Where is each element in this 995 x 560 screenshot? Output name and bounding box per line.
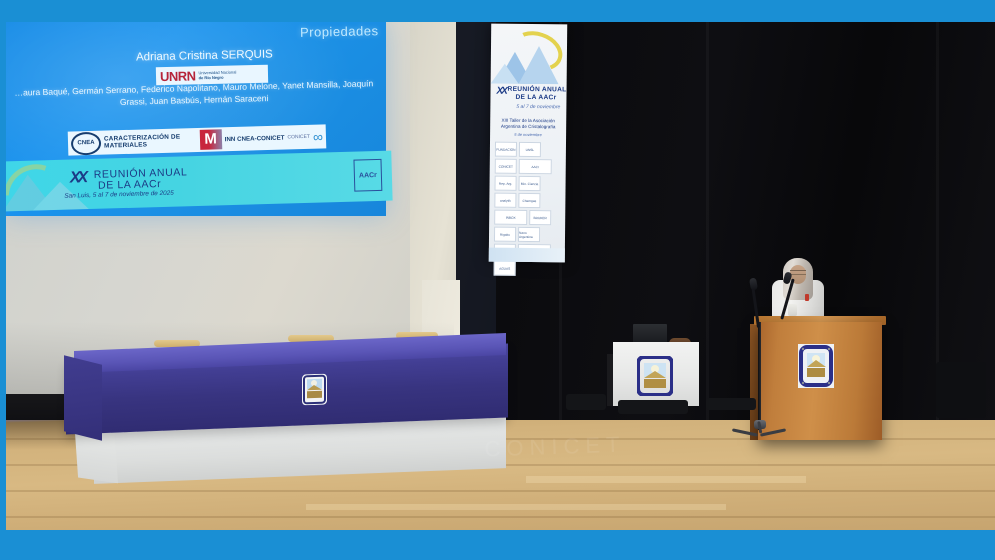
rollup-banner: XX REUNIÓN ANUAL DE LA AACr 5 al 7 de no… — [489, 24, 567, 263]
conference-photograph: Propiedades Adriana Cristina SERQUIS UNR… — [6, 22, 995, 530]
sponsor-logo: AGUAS — [494, 261, 516, 276]
speaker-person — [772, 258, 824, 324]
conicet-label: CONICET — [287, 134, 310, 141]
floor-equipment-case — [566, 394, 606, 410]
sponsor-logo: Nano Argentina — [518, 227, 540, 242]
speaker-badge — [805, 294, 809, 301]
unsl-crest-icon — [302, 374, 327, 406]
sponsor-logo: INBOX — [494, 210, 527, 225]
sponsor-logo: Rigaku — [494, 227, 516, 242]
cnea-logo-icon: CNEA — [71, 131, 102, 155]
floor-cable-bundle — [618, 400, 688, 414]
sponsor-logo: Min. Ciencia — [518, 176, 540, 191]
banner-dates: 5 al 7 de noviembre — [516, 104, 560, 110]
microphone-tripod-base — [732, 426, 788, 436]
sponsor-logo: BRUKER — [529, 210, 551, 225]
speaker-glasses-icon — [790, 270, 806, 275]
unrn-line2: de Río Negro — [199, 75, 224, 81]
sponsor-logo: CONICET — [495, 159, 517, 174]
water-glass — [788, 304, 797, 316]
table-navy-drape — [64, 355, 102, 440]
banner-line1: REUNIÓN ANUAL — [508, 86, 567, 94]
curtain-fold — [706, 22, 709, 442]
unsl-crest-icon — [637, 356, 673, 396]
materiales-m-icon: M — [199, 129, 222, 150]
banner-workshop-line1: XIII Taller de la Asociación — [501, 118, 555, 124]
sponsor-logo: Rep. Arg. — [494, 176, 516, 191]
bottom-border-bar — [0, 530, 995, 560]
banner-workshop-line2: Argentina de Cristalografía — [501, 124, 556, 130]
photo-canvas: Propiedades Adriana Cristina SERQUIS UNR… — [0, 0, 995, 560]
sponsor-logo: analytik — [494, 193, 516, 208]
head-table — [66, 334, 516, 479]
banner-workshop-title: XIII Taller de la Asociación Argentina d… — [498, 118, 558, 131]
floor-equipment-box — [706, 398, 756, 410]
banner-artwork — [491, 28, 568, 85]
banner-roman-numeral: XX — [496, 86, 505, 97]
sponsor-logo: AACr — [519, 159, 552, 174]
conicet-infinity-icon: ∞ — [313, 131, 323, 141]
caracterizacion-label: CARACTERIZACIÓN DE MATERIALES — [104, 133, 197, 150]
sponsor-logo: FUNDACIÓN — [495, 142, 517, 157]
inn-conicet-label: INN CNEA-CONICET — [225, 134, 285, 143]
microphone-stand-pole — [758, 322, 761, 430]
aacr-logo-icon: AACr — [353, 159, 382, 192]
sponsor-logo: UNSL — [519, 142, 541, 157]
slide-title-fragment: Propiedades — [299, 23, 378, 40]
left-border-bar — [0, 22, 6, 530]
unsl-crest-icon — [798, 344, 834, 388]
band-roman-numeral: XX — [70, 169, 86, 187]
sponsor-logo: Chemgas — [518, 193, 540, 208]
projection-screen: Propiedades Adriana Cristina SERQUIS UNR… — [6, 22, 386, 216]
banner-line2: DE LA AACr — [515, 94, 556, 101]
top-border-bar — [0, 0, 995, 22]
banner-workshop-dates: 5 de noviembre — [498, 132, 558, 138]
side-table — [607, 324, 705, 408]
banner-footer-strip — [489, 248, 565, 263]
floor-dark-object — [936, 362, 986, 418]
